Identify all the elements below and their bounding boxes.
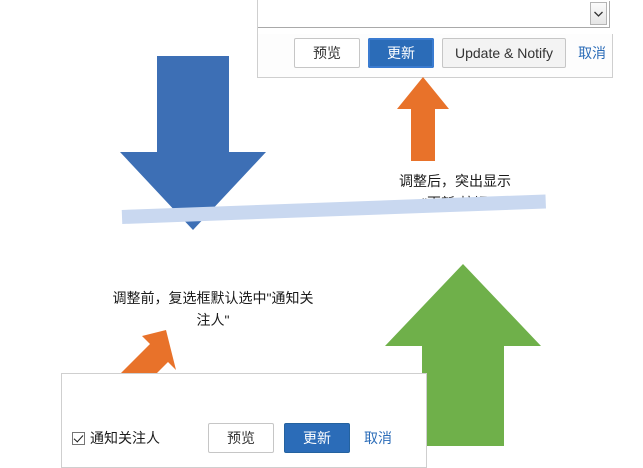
chevron-down-icon[interactable] (590, 2, 607, 25)
preview-button[interactable]: 预览 (294, 38, 360, 68)
dialog-after: 预览 更新 Update & Notify 取消 (257, 0, 613, 78)
preview-button[interactable]: 预览 (208, 423, 274, 453)
notify-followers-checkbox[interactable]: 通知关注人 (72, 428, 160, 448)
checkbox-checked-icon[interactable] (72, 432, 85, 445)
annotation-before: 调整前，复选框默认选中"通知关 注人" (78, 287, 348, 331)
cancel-link[interactable]: 取消 (574, 43, 610, 63)
notify-followers-label: 通知关注人 (90, 428, 160, 448)
select-row (258, 0, 614, 34)
status-select[interactable] (258, 1, 610, 28)
update-button[interactable]: 更新 (284, 423, 350, 453)
dialog-before-button-row: 通知关注人 预览 更新 取消 (72, 423, 396, 453)
dialog-before: 通知关注人 预览 更新 取消 (61, 373, 427, 468)
dialog-after-button-row: 预览 更新 Update & Notify 取消 (294, 38, 610, 68)
update-button[interactable]: 更新 (368, 38, 434, 68)
orange-up-arrow-icon (396, 77, 450, 166)
update-and-notify-button[interactable]: Update & Notify (442, 38, 566, 68)
screenshot-canvas: 预览 更新 Update & Notify 取消 调整后，突出显示 "更新"按钮… (0, 0, 643, 468)
cancel-link[interactable]: 取消 (360, 428, 396, 448)
